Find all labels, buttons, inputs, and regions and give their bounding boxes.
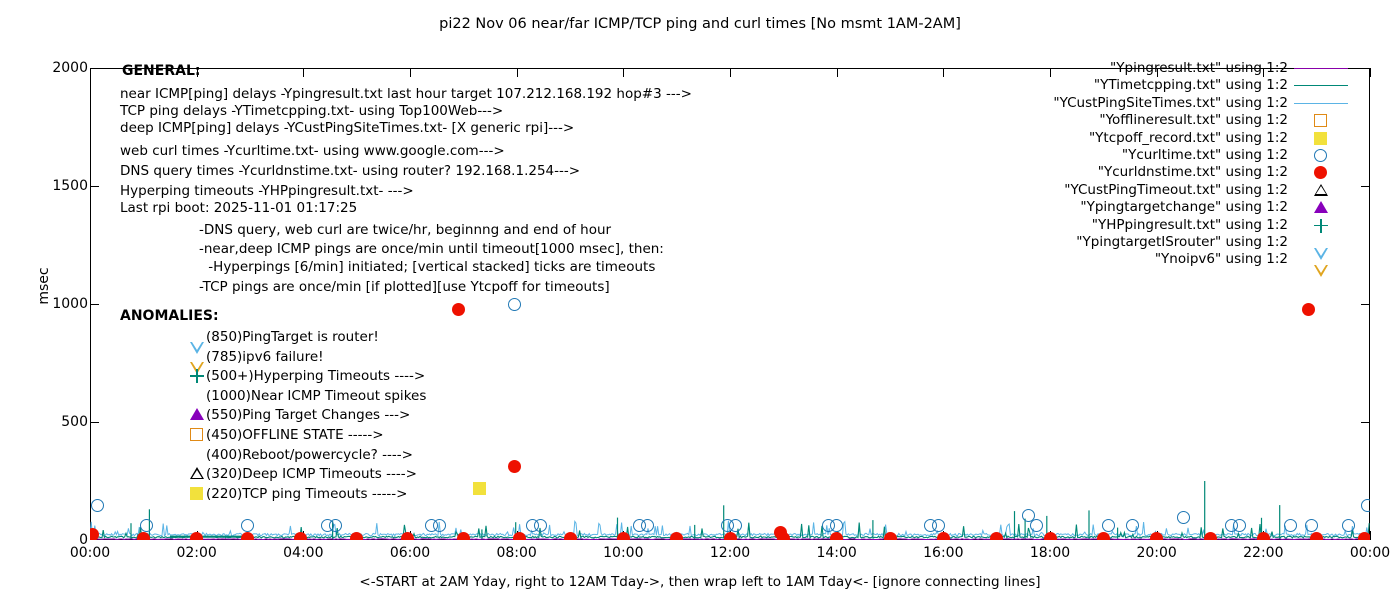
general-line-1: near ICMP[ping] delays -Ypingresult.txt … [120,86,692,104]
x-tick-2000 [1157,531,1158,540]
x-tick-label-0: 00:00 [55,545,125,561]
anomaly-label-8: (220)TCP ping Timeouts -----> [206,486,408,504]
legend-label-10: "YpingtargetISrouter" using 1:2 [1076,234,1288,251]
legend-key-5 [1292,147,1350,164]
anomaly-label-7: (320)Deep ICMP Timeouts ----> [206,466,417,484]
legend-key-9 [1292,217,1350,234]
legend-key-10 [1292,234,1350,251]
x-tick-label-8: 16:00 [908,545,978,561]
legend-key-6 [1292,164,1350,181]
legend-label-3: "Yofflineresult.txt" using 1:2 [1099,112,1288,129]
x-tick-0000 [1370,531,1371,540]
legend-label-0: "Ypingresult.txt" using 1:2 [1110,60,1288,77]
x-tick-label-3: 06:00 [375,545,445,561]
x-tick-1000 [623,531,624,540]
x-tick-label-5: 10:00 [588,545,658,561]
triangle-up-open-icon [1314,184,1328,196]
x-tick-0200 [197,531,198,540]
legend: "Ypingresult.txt" using 1:2"YTimetcpping… [930,60,1350,269]
legend-row-7[interactable]: "YCustPingTimeout.txt" using 1:2 [930,182,1350,199]
x-tick-label-11: 22:00 [1228,545,1298,561]
x-tick-label-7: 14:00 [802,545,872,561]
legend-line-icon [1294,85,1348,86]
circle-open-icon [1314,149,1327,162]
x-tick-label-9: 18:00 [1015,545,1085,561]
general-line-3: deep ICMP[ping] delays -YCustPingSiteTim… [120,120,574,138]
x-tick-top-12 [1370,68,1371,77]
anomaly-label-1: (785)ipv6 failure! [206,349,324,367]
legend-row-5[interactable]: "Ycurltime.txt" using 1:2 [930,147,1350,164]
x-tick-0800 [517,531,518,540]
legend-key-0 [1292,60,1350,77]
triangle-up-open-icon [190,467,204,479]
x-tick-top-6 [730,68,731,77]
legend-key-8 [1292,199,1350,216]
legend-row-10[interactable]: "YpingtargetISrouter" using 1:2 [930,234,1350,251]
x-tick-label-10: 20:00 [1122,545,1192,561]
general-heading: GENERAL: [122,63,200,81]
legend-label-4: "Ytcpoff_record.txt" using 1:2 [1089,130,1288,147]
legend-label-5: "Ycurltime.txt" using 1:2 [1122,147,1288,164]
general-line-5: DNS query times -Ycurldnstime.txt- using… [120,163,580,181]
legend-row-11[interactable]: "Ynoipv6" using 1:2 [930,251,1350,268]
triangle-down-orange-icon [1314,265,1328,277]
legend-row-9[interactable]: "YHPpingresult.txt" using 1:2 [930,217,1350,234]
anomaly-label-3: (1000)Near ICMP Timeout spikes [206,388,426,406]
plus-icon [1314,219,1328,233]
anomaly-label-4: (550)Ping Target Changes ---> [206,407,410,425]
legend-label-9: "YHPpingresult.txt" using 1:2 [1092,217,1288,234]
general-detail-1: -DNS query, web curl are twice/hr, begin… [199,222,611,240]
plus-icon [190,369,204,383]
x-tick-top-4 [517,68,518,77]
legend-row-3[interactable]: "Yofflineresult.txt" using 1:2 [930,112,1350,129]
x-tick-label-4: 08:00 [482,545,552,561]
legend-row-6[interactable]: "Ycurldnstime.txt" using 1:2 [930,164,1350,181]
x-tick-top-5 [623,68,624,77]
x-tick-0000 [90,531,91,540]
general-detail-3: -Hyperpings [6/min] initiated; [vertical… [204,259,655,277]
x-tick-2200 [1263,531,1264,540]
general-line-2: TCP ping delays -YTimetcpping.txt- using… [120,103,503,121]
anomaly-label-2: (500+)Hyperping Timeouts ----> [206,368,425,386]
y-tick-label-500: 500 [28,415,88,429]
general-line-4: web curl times -Ycurltime.txt- using www… [120,143,505,161]
legend-label-6: "Ycurldnstime.txt" using 1:2 [1098,164,1288,181]
anomaly-label-5: (450)OFFLINE STATE -----> [206,427,384,445]
legend-line-icon [1294,103,1348,104]
anomalies-heading: ANOMALIES: [120,308,219,326]
anomaly-label-6: (400)Reboot/powercycle? ----> [206,447,413,465]
x-tick-label-2: 04:00 [268,545,338,561]
legend-row-8[interactable]: "Ypingtargetchange" using 1:2 [930,199,1350,216]
legend-key-3 [1292,112,1350,129]
legend-label-2: "YCustPingSiteTimes.txt" using 1:2 [1053,95,1288,112]
legend-key-2 [1292,95,1350,112]
square-open-icon [190,428,203,441]
x-tick-top-3 [410,68,411,77]
x-tick-1600 [943,531,944,540]
x-tick-top-2 [303,68,304,77]
legend-label-7: "YCustPingTimeout.txt" using 1:2 [1064,182,1288,199]
legend-key-7 [1292,182,1350,199]
x-tick-label-6: 12:00 [695,545,765,561]
legend-row-4[interactable]: "Ytcpoff_record.txt" using 1:2 [930,130,1350,147]
square-filled-icon [190,487,203,500]
x-tick-0400 [303,531,304,540]
legend-row-1[interactable]: "YTimetcpping.txt" using 1:2 [930,77,1350,94]
x-tick-1200 [730,531,731,540]
x-tick-0600 [410,531,411,540]
y-tick-label-1000: 1000 [28,297,88,311]
y-tick-label-1500: 1500 [28,179,88,193]
general-line-6: Hyperping timeouts -YHPpingresult.txt- -… [120,183,414,201]
anomaly-label-0: (850)PingTarget is router! [206,329,379,347]
x-tick-top-7 [837,68,838,77]
x-tick-label-1: 02:00 [162,545,232,561]
triangle-up-filled-icon [190,408,204,420]
legend-key-11 [1292,251,1350,268]
legend-line-icon [1294,68,1348,69]
legend-row-0[interactable]: "Ypingresult.txt" using 1:2 [930,60,1350,77]
general-detail-4: -TCP pings are once/min [if plotted][use… [199,279,610,297]
legend-label-8: "Ypingtargetchange" using 1:2 [1080,199,1288,216]
legend-row-2[interactable]: "YCustPingSiteTimes.txt" using 1:2 [930,95,1350,112]
triangle-up-filled-icon [1314,201,1328,213]
x-tick-1800 [1050,531,1051,540]
legend-label-1: "YTimetcpping.txt" using 1:2 [1094,77,1288,94]
x-axis-label: <-START at 2AM Yday, right to 12AM Tday-… [0,574,1400,590]
square-filled-icon [1314,132,1327,145]
x-tick-label-12: 00:00 [1335,545,1400,561]
y-axis-label: msec [36,226,52,346]
chart-title: pi22 Nov 06 near/far ICMP/TCP ping and c… [0,16,1400,32]
general-line-7: Last rpi boot: 2025-11-01 01:17:25 [120,200,357,218]
x-tick-1400 [837,531,838,540]
general-detail-2: -near,deep ICMP pings are once/min until… [199,241,664,259]
y-tick-label-2000: 2000 [28,61,88,75]
legend-key-4 [1292,130,1350,147]
legend-label-11: "Ynoipv6" using 1:2 [1155,251,1288,268]
circle-filled-icon [1314,166,1327,179]
legend-key-1 [1292,77,1350,94]
square-open-icon [1314,114,1327,127]
x-tick-top-0 [90,68,91,77]
